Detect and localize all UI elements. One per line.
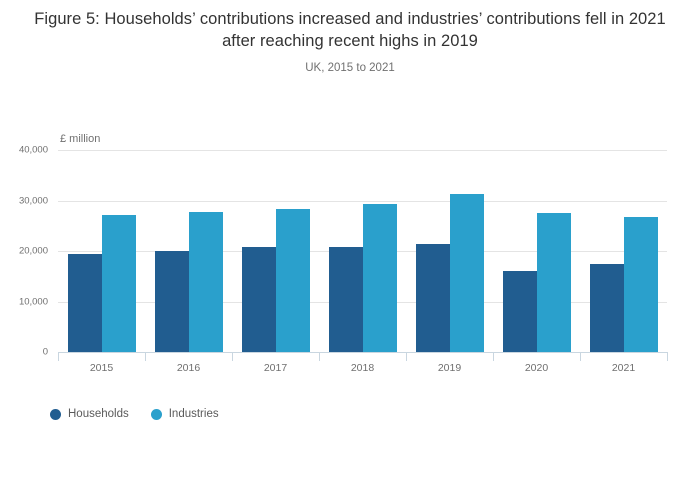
x-axis-tick xyxy=(406,352,407,361)
bar-households-2018[interactable] xyxy=(329,247,363,352)
bar-households-2015[interactable] xyxy=(68,254,102,352)
bar-industries-2016[interactable] xyxy=(189,212,223,352)
x-axis-tick xyxy=(580,352,581,361)
bar-group xyxy=(319,150,406,352)
chart-title: Figure 5: Households’ contributions incr… xyxy=(18,8,682,52)
chart-plot: £ million 010,00020,00030,00040,000 2015… xyxy=(0,122,700,372)
x-axis-tick-label: 2017 xyxy=(232,362,319,374)
x-axis-tick xyxy=(58,352,59,361)
legend-item-industries[interactable]: Industries xyxy=(151,408,219,420)
legend-label: Industries xyxy=(169,408,219,420)
x-axis-tick xyxy=(667,352,668,361)
chart-legend: HouseholdsIndustries xyxy=(50,408,219,420)
bar-group xyxy=(493,150,580,352)
bar-industries-2019[interactable] xyxy=(450,194,484,352)
bar-households-2017[interactable] xyxy=(242,247,276,352)
x-axis-tick xyxy=(145,352,146,361)
x-axis-tick-label: 2020 xyxy=(493,362,580,374)
x-axis-tick-label: 2021 xyxy=(580,362,667,374)
chart-subtitle: UK, 2015 to 2021 xyxy=(18,62,682,74)
bar-industries-2021[interactable] xyxy=(624,217,658,352)
bar-industries-2015[interactable] xyxy=(102,215,136,352)
y-axis-tick-label: 20,000 xyxy=(19,246,48,257)
y-axis-unit-label: £ million xyxy=(60,133,100,145)
y-axis-tick-label: 30,000 xyxy=(19,195,48,206)
bar-group xyxy=(145,150,232,352)
x-axis-tick-label: 2018 xyxy=(319,362,406,374)
legend-item-households[interactable]: Households xyxy=(50,408,129,420)
x-axis-tick xyxy=(319,352,320,361)
bar-group xyxy=(406,150,493,352)
bar-groups xyxy=(58,150,667,352)
x-axis-tick xyxy=(232,352,233,361)
bar-households-2019[interactable] xyxy=(416,244,450,352)
bar-households-2016[interactable] xyxy=(155,251,189,352)
legend-swatch-icon xyxy=(50,409,61,420)
x-axis-tick-label: 2015 xyxy=(58,362,145,374)
x-axis-labels: 2015201620172018201920202021 xyxy=(58,362,667,374)
bar-group xyxy=(232,150,319,352)
y-axis-tick-label: 10,000 xyxy=(19,296,48,307)
chart-title-line-1: Figure 5: Households’ contributions incr… xyxy=(34,10,580,28)
legend-swatch-icon xyxy=(151,409,162,420)
x-axis-line xyxy=(58,352,667,353)
x-axis-tick xyxy=(493,352,494,361)
bar-group xyxy=(580,150,667,352)
bar-industries-2017[interactable] xyxy=(276,209,310,352)
bar-households-2021[interactable] xyxy=(590,264,624,352)
y-axis-tick-label: 0 xyxy=(43,347,48,358)
y-axis-tick-label: 40,000 xyxy=(19,145,48,156)
bar-group xyxy=(58,150,145,352)
x-axis-tick-label: 2019 xyxy=(406,362,493,374)
bar-households-2020[interactable] xyxy=(503,271,537,352)
legend-label: Households xyxy=(68,408,129,420)
chart-header: Figure 5: Households’ contributions incr… xyxy=(0,0,700,74)
bar-industries-2020[interactable] xyxy=(537,213,571,352)
x-axis-tick-label: 2016 xyxy=(145,362,232,374)
bar-industries-2018[interactable] xyxy=(363,204,397,352)
